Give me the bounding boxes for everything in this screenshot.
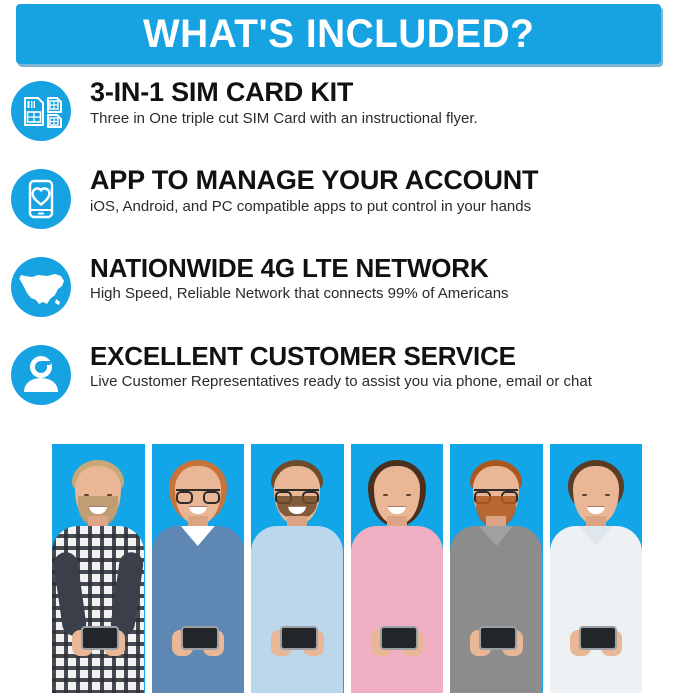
- feature-row-app-management: APP TO MANAGE YOUR ACCOUNT iOS, Android,…: [0, 164, 679, 252]
- feature-subtitle: Live Customer Representatives ready to a…: [90, 373, 679, 392]
- people-photo-strip: [52, 444, 642, 693]
- feature-title: APP TO MANAGE YOUR ACCOUNT: [90, 166, 679, 195]
- feature-title: 3-IN-1 SIM CARD KIT: [90, 78, 679, 107]
- feature-list: 3-IN-1 SIM CARD KIT Three in One triple …: [0, 76, 679, 428]
- feature-text-block: NATIONWIDE 4G LTE NETWORK High Speed, Re…: [90, 252, 679, 304]
- photo-panel: [251, 444, 344, 693]
- feature-subtitle: iOS, Android, and PC compatible apps to …: [90, 198, 679, 217]
- feature-title: EXCELLENT CUSTOMER SERVICE: [90, 342, 679, 370]
- eye-left: [383, 494, 388, 496]
- whats-included-banner: WHAT'S INCLUDED?: [16, 4, 661, 64]
- photo-panel: [450, 444, 543, 693]
- sim-card-icon: [10, 80, 72, 142]
- feature-row-customer-service: EXCELLENT CUSTOMER SERVICE Live Customer…: [0, 340, 679, 428]
- smartphone: [479, 626, 517, 650]
- photo-panel: [550, 444, 643, 693]
- feature-title: NATIONWIDE 4G LTE NETWORK: [90, 254, 679, 282]
- smartphone: [380, 626, 418, 650]
- smartphone: [579, 626, 617, 650]
- smartphone: [81, 626, 119, 650]
- smartphone: [280, 626, 318, 650]
- phone-heart-app-icon: [10, 168, 72, 230]
- page-title: WHAT'S INCLUDED?: [143, 14, 534, 54]
- eye-right: [107, 494, 112, 496]
- usa-map-icon: [10, 256, 72, 318]
- eye-left: [84, 494, 89, 496]
- smartphone: [181, 626, 219, 650]
- photo-panel: [152, 444, 245, 693]
- feature-row-sim-card-kit: 3-IN-1 SIM CARD KIT Three in One triple …: [0, 76, 679, 164]
- eye-right: [406, 494, 411, 496]
- feature-row-nationwide-network: NATIONWIDE 4G LTE NETWORK High Speed, Re…: [0, 252, 679, 340]
- photo-panel: [52, 444, 145, 693]
- feature-subtitle: Three in One triple cut SIM Card with an…: [90, 110, 679, 129]
- feature-text-block: EXCELLENT CUSTOMER SERVICE Live Customer…: [90, 340, 679, 392]
- feature-subtitle: High Speed, Reliable Network that connec…: [90, 285, 679, 304]
- feature-text-block: APP TO MANAGE YOUR ACCOUNT iOS, Android,…: [90, 164, 679, 217]
- customer-support-person-icon: [10, 344, 72, 406]
- eye-left: [582, 494, 587, 496]
- feature-text-block: 3-IN-1 SIM CARD KIT Three in One triple …: [90, 76, 679, 129]
- eye-right: [605, 494, 610, 496]
- eyeglasses: [176, 489, 220, 503]
- photo-panel: [351, 444, 444, 693]
